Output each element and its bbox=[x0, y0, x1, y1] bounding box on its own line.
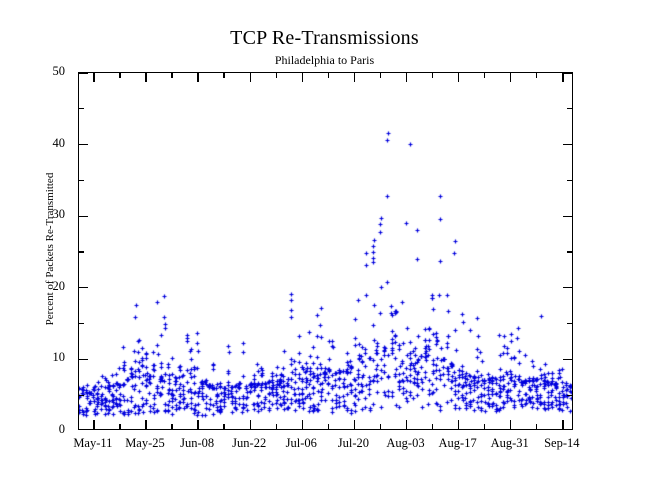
y-tick-major bbox=[79, 287, 88, 288]
x-tick-major-top bbox=[302, 73, 303, 82]
y-tick-label: 40 bbox=[5, 137, 65, 149]
x-tick-major bbox=[302, 420, 303, 429]
scatter-points-layer bbox=[79, 73, 573, 430]
x-tick-minor bbox=[276, 424, 277, 429]
y-tick-label: 20 bbox=[5, 280, 65, 292]
x-tick-minor-top bbox=[432, 73, 433, 78]
y-tick-minor-right bbox=[567, 108, 572, 109]
x-tick-minor-top bbox=[484, 73, 485, 78]
x-tick-minor-top bbox=[119, 73, 120, 78]
x-tick-minor bbox=[536, 424, 537, 429]
y-tick-major bbox=[79, 359, 88, 360]
y-axis-title: Percent of Packets Re-Transmitted bbox=[44, 124, 56, 374]
y-tick-minor-right bbox=[567, 180, 572, 181]
y-tick-major-right bbox=[563, 216, 572, 217]
x-tick-major-top bbox=[458, 73, 459, 82]
y-tick-minor-right bbox=[567, 251, 572, 252]
chart-subtitle: Philadelphia to Paris bbox=[0, 53, 649, 68]
x-tick-minor-top bbox=[276, 73, 277, 78]
y-tick-minor-right bbox=[567, 323, 572, 324]
y-tick-minor bbox=[79, 180, 84, 181]
y-tick-major bbox=[79, 144, 88, 145]
x-tick-minor-top bbox=[223, 73, 224, 78]
y-tick-major bbox=[79, 72, 88, 73]
x-tick-minor-top bbox=[536, 73, 537, 78]
x-tick-major bbox=[458, 420, 459, 429]
chart-figure: TCP Re-Transmissions Philadelphia to Par… bbox=[0, 0, 649, 501]
x-tick-major bbox=[562, 420, 563, 429]
x-tick-minor-top bbox=[328, 73, 329, 78]
x-tick-major bbox=[197, 420, 198, 429]
x-tick-major-top bbox=[250, 73, 251, 82]
x-tick-label: Sep-14 bbox=[517, 437, 607, 450]
y-tick-minor-right bbox=[567, 395, 572, 396]
x-tick-minor bbox=[380, 424, 381, 429]
y-tick-label: 10 bbox=[5, 351, 65, 363]
x-tick-minor bbox=[328, 424, 329, 429]
x-tick-minor bbox=[171, 424, 172, 429]
y-tick-minor bbox=[79, 323, 84, 324]
x-tick-major-top bbox=[197, 73, 198, 82]
y-tick-major bbox=[79, 216, 88, 217]
x-tick-minor bbox=[223, 424, 224, 429]
x-tick-minor bbox=[432, 424, 433, 429]
y-tick-label: 50 bbox=[5, 65, 65, 77]
x-tick-minor-top bbox=[171, 73, 172, 78]
y-tick-major-right bbox=[563, 287, 572, 288]
x-tick-major bbox=[250, 420, 251, 429]
x-tick-major-top bbox=[145, 73, 146, 82]
y-tick-label: 0 bbox=[5, 423, 65, 435]
x-tick-major bbox=[354, 420, 355, 429]
x-tick-minor bbox=[119, 424, 120, 429]
x-tick-major bbox=[145, 420, 146, 429]
x-tick-major-top bbox=[93, 73, 94, 82]
x-tick-major-top bbox=[406, 73, 407, 82]
x-tick-minor-top bbox=[380, 73, 381, 78]
x-tick-minor bbox=[484, 424, 485, 429]
x-tick-major bbox=[406, 420, 407, 429]
y-tick-minor bbox=[79, 395, 84, 396]
x-tick-major bbox=[510, 420, 511, 429]
y-tick-major-right bbox=[563, 144, 572, 145]
x-tick-major-top bbox=[510, 73, 511, 82]
y-tick-minor bbox=[79, 251, 84, 252]
x-tick-major bbox=[93, 420, 94, 429]
y-tick-minor bbox=[79, 108, 84, 109]
y-tick-label: 30 bbox=[5, 208, 65, 220]
y-tick-major-right bbox=[563, 359, 572, 360]
y-tick-major-right bbox=[563, 72, 572, 73]
x-tick-major-top bbox=[562, 73, 563, 82]
chart-title: TCP Re-Transmissions bbox=[0, 27, 649, 50]
x-tick-major-top bbox=[354, 73, 355, 82]
plot-area bbox=[78, 72, 573, 430]
